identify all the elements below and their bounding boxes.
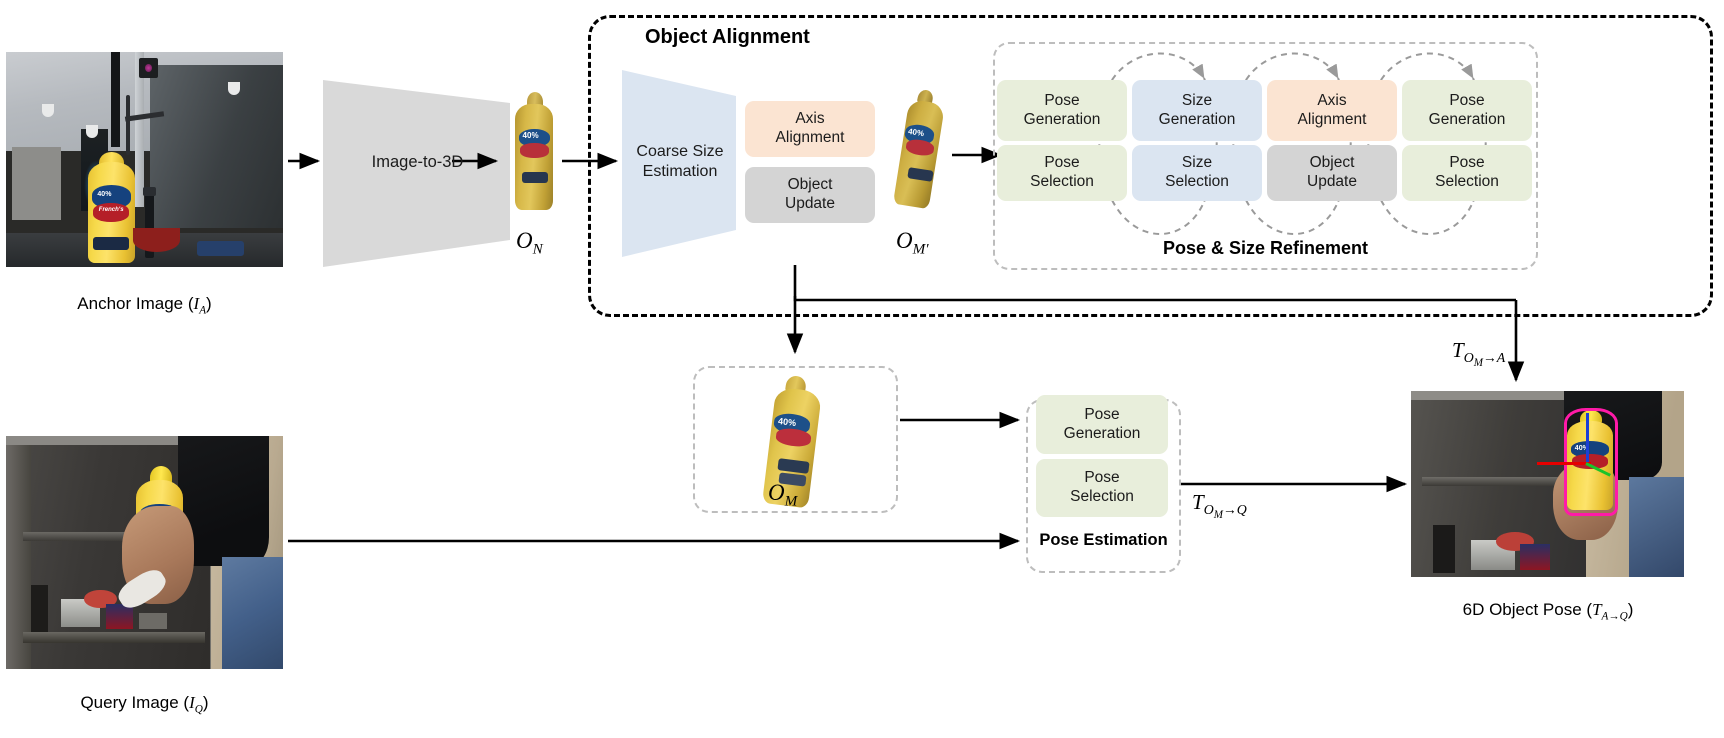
poseest-pose-selection-label: Pose Selection bbox=[1070, 469, 1134, 507]
pose-estimation-title: Pose Estimation bbox=[1026, 531, 1181, 550]
6d-pose-result-photo: 40% bbox=[1411, 391, 1684, 577]
result-caption-close: ) bbox=[1628, 600, 1634, 619]
object-om-prime: 40% bbox=[895, 90, 945, 208]
refine-size-generation[interactable]: Size Generation bbox=[1132, 80, 1262, 141]
anchor-caption-text: Anchor Image ( bbox=[77, 294, 193, 313]
refine-pose-selection-label: Pose Selection bbox=[1030, 154, 1094, 192]
refine-object-update[interactable]: Object Update bbox=[1267, 145, 1397, 201]
refine-size-selection-label: Size Selection bbox=[1165, 154, 1229, 192]
object-on-label: ON bbox=[516, 228, 543, 259]
coarse-size-estimation-label: Coarse Size Estimation bbox=[625, 136, 735, 188]
transform-om-to-a-label: TOM→A bbox=[1452, 338, 1505, 369]
object-on: 40% bbox=[508, 92, 560, 210]
result-caption-subscript: A→Q bbox=[1602, 610, 1628, 622]
refine-size-generation-label: Size Generation bbox=[1159, 92, 1236, 130]
alignment-box-axis-alignment-label: Axis Alignment bbox=[776, 110, 845, 148]
result-image-caption: 6D Object Pose (TA→Q) bbox=[1390, 600, 1706, 622]
refine-pose-generation[interactable]: Pose Generation bbox=[997, 80, 1127, 141]
refine-pose-selection-2-label: Pose Selection bbox=[1435, 154, 1499, 192]
poseest-pose-generation-label: Pose Generation bbox=[1064, 406, 1141, 444]
alignment-box-axis-alignment[interactable]: Axis Alignment bbox=[745, 101, 875, 157]
query-caption-subscript: Q bbox=[195, 703, 203, 715]
anchor-caption-close: ) bbox=[206, 294, 212, 313]
refine-axis-alignment-label: Axis Alignment bbox=[1298, 92, 1367, 130]
poseest-pose-selection[interactable]: Pose Selection bbox=[1036, 459, 1168, 517]
pose-size-refinement-title: Pose & Size Refinement bbox=[993, 238, 1538, 259]
object-om-label: OM bbox=[768, 480, 797, 511]
transform-om-to-q-label: TOM→Q bbox=[1192, 490, 1247, 521]
refine-pose-generation-label: Pose Generation bbox=[1024, 92, 1101, 130]
refine-pose-generation-2-label: Pose Generation bbox=[1429, 92, 1506, 130]
result-caption-symbol: T bbox=[1592, 600, 1601, 619]
image-to-3d-label: Image-to-3D bbox=[330, 150, 505, 174]
anchor-caption-subscript: A bbox=[199, 304, 206, 316]
result-caption-text: 6D Object Pose ( bbox=[1463, 600, 1592, 619]
alignment-box-object-update[interactable]: Object Update bbox=[745, 167, 875, 223]
refine-axis-alignment[interactable]: Axis Alignment bbox=[1267, 80, 1397, 141]
pose-axis-z bbox=[1586, 413, 1589, 461]
pose-axis-x bbox=[1537, 462, 1592, 465]
refine-object-update-label: Object Update bbox=[1307, 154, 1357, 192]
anchor-image-photo: 40% French's bbox=[6, 52, 283, 267]
diagram-canvas: 40% French's Anchor Image (IA) bbox=[0, 0, 1724, 738]
query-image-caption: Query Image (IQ) bbox=[6, 693, 283, 715]
refine-pose-selection-2[interactable]: Pose Selection bbox=[1402, 145, 1532, 201]
refine-pose-generation-2[interactable]: Pose Generation bbox=[1402, 80, 1532, 141]
query-caption-text: Query Image ( bbox=[80, 693, 189, 712]
refine-pose-selection[interactable]: Pose Selection bbox=[997, 145, 1127, 201]
anchor-image-caption: Anchor Image (IA) bbox=[6, 294, 283, 316]
query-image-photo: 40% French's bbox=[6, 436, 283, 669]
poseest-pose-generation[interactable]: Pose Generation bbox=[1036, 395, 1168, 454]
query-caption-close: ) bbox=[203, 693, 209, 712]
object-alignment-title: Object Alignment bbox=[645, 26, 810, 49]
alignment-box-object-update-label: Object Update bbox=[785, 176, 835, 214]
refine-size-selection[interactable]: Size Selection bbox=[1132, 145, 1262, 201]
object-om-prime-label: OM′ bbox=[896, 228, 929, 259]
